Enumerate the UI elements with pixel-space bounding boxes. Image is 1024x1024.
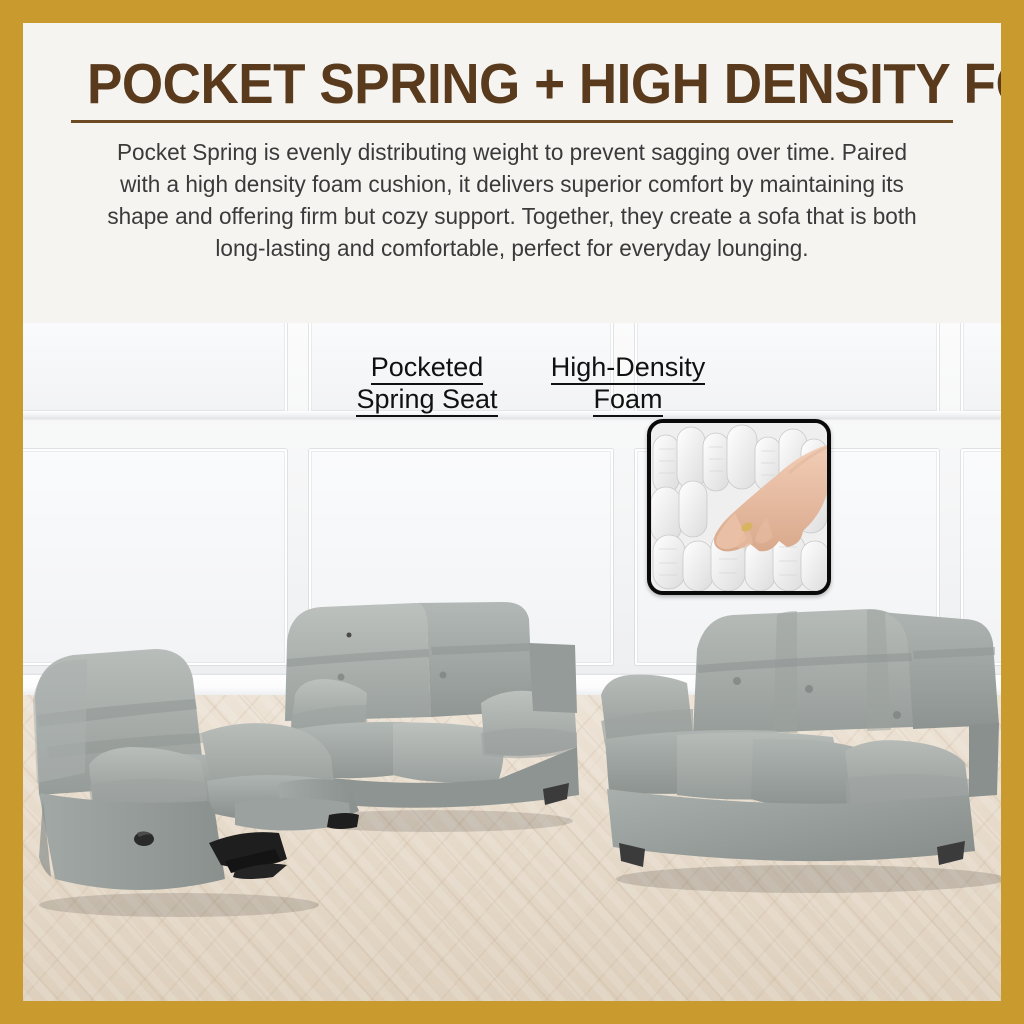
feature-caption: Pocketed Spring Seat xyxy=(335,353,519,417)
title-underline-rule xyxy=(71,120,953,123)
feature-caption-line2: Spring Seat xyxy=(356,385,497,417)
poster-header: POCKET SPRING + HIGH DENSITY FOAM Pocket… xyxy=(23,23,1001,323)
feature-caption-line2: Foam xyxy=(593,385,662,417)
recliner-armchair xyxy=(29,643,369,928)
hand-pressing-pocket-springs-illustration xyxy=(651,423,827,591)
page-title: POCKET SPRING + HIGH DENSITY FOAM xyxy=(87,53,937,115)
product-feature-poster: Pocketed Spring Seat xyxy=(0,0,1024,1024)
feature-caption: High-Density Foam xyxy=(542,353,714,417)
feature-pocketed-spring-seat: Pocketed Spring Seat xyxy=(335,353,519,417)
three-seater-sofa xyxy=(601,603,1001,903)
poster-inner: Pocketed Spring Seat xyxy=(23,23,1001,1001)
description-paragraph: Pocket Spring is evenly distributing wei… xyxy=(100,136,924,264)
feature-caption-line1: Pocketed xyxy=(371,353,484,385)
feature-high-density-foam: High-Density Foam xyxy=(542,353,714,417)
feature-caption-line1: High-Density xyxy=(551,353,706,385)
pocket-spring-photo xyxy=(647,419,831,595)
furniture-group xyxy=(23,323,1001,1001)
